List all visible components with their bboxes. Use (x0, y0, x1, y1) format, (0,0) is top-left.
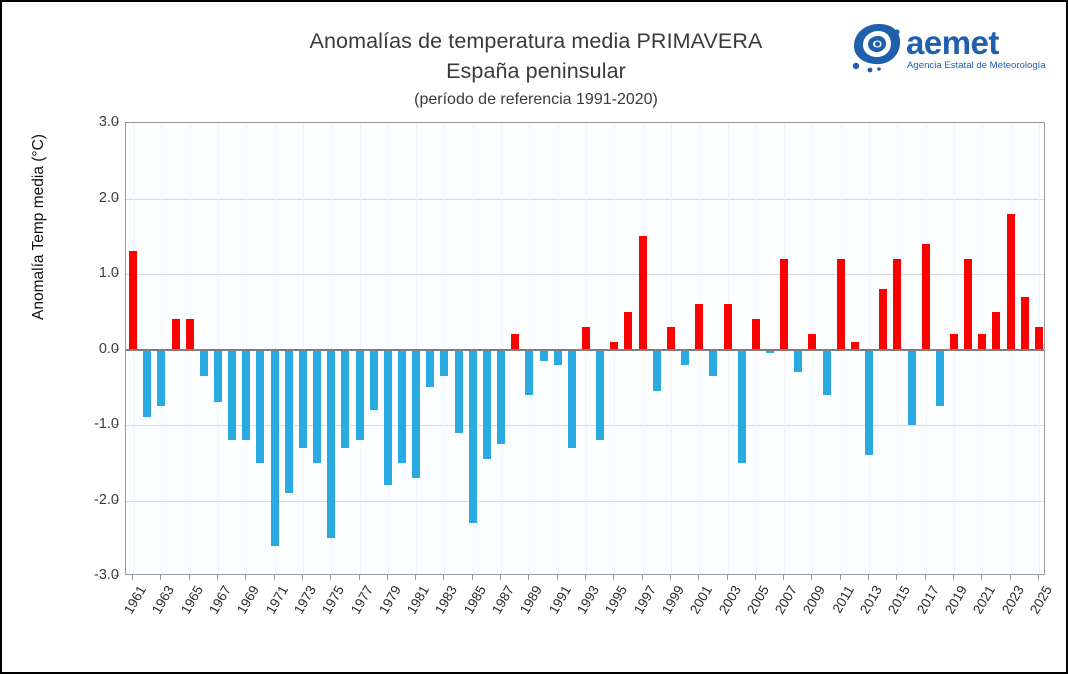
x-tick-label: 2007 (771, 583, 800, 618)
y-tick-label: 3.0 (73, 114, 119, 130)
x-tick-mark (613, 575, 614, 580)
x-tick-label: 1961 (120, 583, 149, 618)
x-tick-mark (755, 575, 756, 580)
y-tick-label: 2.0 (73, 190, 119, 206)
bar-2001 (695, 304, 703, 349)
bar-1990 (540, 350, 548, 361)
x-tick-mark (840, 575, 841, 580)
x-tick-label: 2009 (799, 583, 828, 618)
x-tick-mark (585, 575, 586, 580)
bar-1976 (341, 350, 349, 448)
x-tick-mark (981, 575, 982, 580)
x-tick-mark (698, 575, 699, 580)
x-tick-label: 1997 (630, 583, 659, 618)
bar-1965 (186, 319, 194, 349)
x-tick-label: 2023 (998, 583, 1027, 618)
x-tick-label: 2011 (828, 583, 857, 618)
bar-2003 (724, 304, 732, 349)
x-tick-label: 1989 (516, 583, 545, 618)
x-tick-mark (557, 575, 558, 580)
x-tick-mark (387, 575, 388, 580)
bar-2025 (1035, 327, 1043, 350)
x-tick-mark (160, 575, 161, 580)
x-tick-label: 1973 (290, 583, 319, 618)
x-tick-label: 1983 (431, 583, 460, 618)
bar-1984 (455, 350, 463, 433)
bar-1988 (511, 334, 519, 349)
chart-reference-note: (período de referencia 1991-2020) (2, 88, 1068, 112)
bar-1964 (172, 319, 180, 349)
x-tick-mark (217, 575, 218, 580)
x-tick-mark (811, 575, 812, 580)
x-tick-mark (783, 575, 784, 580)
bar-2008 (794, 350, 802, 373)
x-tick-label: 1971 (262, 583, 291, 618)
bar-1981 (412, 350, 420, 478)
bar-1977 (356, 350, 364, 441)
bar-1979 (384, 350, 392, 486)
bar-1980 (398, 350, 406, 463)
bar-2014 (879, 289, 887, 349)
bar-1968 (228, 350, 236, 441)
x-tick-label: 1969 (233, 583, 262, 618)
x-axis-ticks: 1961196319651967196919711973197519771979… (125, 575, 1045, 670)
x-tick-label: 1965 (177, 583, 206, 618)
bar-2023 (1007, 214, 1015, 350)
aemet-logo: aemet Agencia Estatal de Meteorología (848, 20, 1048, 80)
bar-2021 (978, 334, 986, 349)
x-tick-label: 2017 (913, 583, 942, 618)
x-tick-label: 1987 (488, 583, 517, 618)
x-tick-mark (953, 575, 954, 580)
bar-1974 (313, 350, 321, 463)
x-tick-label: 1967 (205, 583, 234, 618)
x-tick-label: 1995 (601, 583, 630, 618)
gridline-horizontal (126, 199, 1044, 200)
gridline-horizontal (126, 274, 1044, 275)
bar-2002 (709, 350, 717, 376)
chart-page: Anomalías de temperatura media PRIMAVERA… (0, 0, 1068, 674)
x-tick-mark (274, 575, 275, 580)
y-tick-label: 1.0 (73, 265, 119, 281)
x-tick-mark (896, 575, 897, 580)
y-tick-label: -1.0 (73, 416, 119, 432)
bar-1961 (129, 251, 137, 349)
bar-1991 (554, 350, 562, 365)
x-tick-mark (359, 575, 360, 580)
x-tick-mark (132, 575, 133, 580)
bar-1969 (242, 350, 250, 441)
y-tick-label: -2.0 (73, 492, 119, 508)
bar-1986 (483, 350, 491, 459)
bar-2005 (752, 319, 760, 349)
x-tick-label: 1963 (148, 583, 177, 618)
x-tick-label: 1999 (658, 583, 687, 618)
bar-1999 (667, 327, 675, 350)
bar-2020 (964, 259, 972, 350)
x-tick-mark (330, 575, 331, 580)
bar-1967 (214, 350, 222, 403)
x-tick-mark (500, 575, 501, 580)
bar-1982 (426, 350, 434, 388)
bar-1983 (440, 350, 448, 376)
x-tick-label: 1977 (347, 583, 376, 618)
bar-1975 (327, 350, 335, 539)
bar-1971 (271, 350, 279, 546)
y-tick-label: -3.0 (73, 567, 119, 583)
bar-1996 (624, 312, 632, 350)
bar-1966 (200, 350, 208, 376)
bar-1997 (639, 236, 647, 349)
y-axis-title: Anomalía Temp media (°C) (30, 37, 48, 417)
x-tick-mark (302, 575, 303, 580)
bar-1989 (525, 350, 533, 395)
x-tick-label: 1993 (573, 583, 602, 618)
bar-2010 (823, 350, 831, 395)
bar-1973 (299, 350, 307, 448)
bar-2009 (808, 334, 816, 349)
x-tick-label: 2003 (715, 583, 744, 618)
x-tick-mark (245, 575, 246, 580)
bar-2015 (893, 259, 901, 350)
bar-2024 (1021, 297, 1029, 350)
bar-2013 (865, 350, 873, 456)
x-tick-mark (472, 575, 473, 580)
bar-1962 (143, 350, 151, 418)
x-tick-mark (443, 575, 444, 580)
bar-2017 (922, 244, 930, 350)
x-tick-mark (189, 575, 190, 580)
bar-2011 (837, 259, 845, 350)
x-tick-label: 2021 (969, 583, 998, 618)
x-tick-mark (1038, 575, 1039, 580)
x-tick-label: 1979 (375, 583, 404, 618)
y-tick-label: 0.0 (73, 341, 119, 357)
bar-2007 (780, 259, 788, 350)
bar-2019 (950, 334, 958, 349)
zero-axis-line (126, 349, 1044, 351)
bar-1978 (370, 350, 378, 410)
y-axis-ticks: 3.02.01.00.0-1.0-2.0-3.0 (62, 122, 119, 575)
bar-2016 (908, 350, 916, 426)
x-tick-label: 2025 (1026, 583, 1055, 618)
bar-1987 (497, 350, 505, 444)
x-tick-label: 2019 (941, 583, 970, 618)
bar-2018 (936, 350, 944, 407)
x-tick-label: 2001 (686, 583, 715, 618)
x-tick-mark (670, 575, 671, 580)
aemet-wordmark: aemet (906, 24, 999, 61)
bar-1963 (157, 350, 165, 407)
x-tick-label: 2013 (856, 583, 885, 618)
bar-1994 (596, 350, 604, 441)
x-tick-mark (868, 575, 869, 580)
plot-area (125, 122, 1045, 575)
x-tick-label: 1991 (545, 583, 574, 618)
x-tick-label: 1985 (460, 583, 489, 618)
bar-2004 (738, 350, 746, 463)
aemet-tagline: Agencia Estatal de Meteorología (907, 60, 1046, 71)
x-tick-mark (1010, 575, 1011, 580)
x-tick-mark (528, 575, 529, 580)
x-tick-mark (727, 575, 728, 580)
x-tick-mark (642, 575, 643, 580)
x-tick-label: 2005 (743, 583, 772, 618)
bar-1985 (469, 350, 477, 524)
x-tick-label: 2015 (884, 583, 913, 618)
bar-1993 (582, 327, 590, 350)
x-tick-mark (415, 575, 416, 580)
bar-2000 (681, 350, 689, 365)
bar-1970 (256, 350, 264, 463)
x-tick-label: 1975 (318, 583, 347, 618)
x-tick-label: 1981 (403, 583, 432, 618)
aemet-logo-mark (853, 24, 900, 72)
gridline-horizontal (126, 501, 1044, 502)
bar-1992 (568, 350, 576, 448)
x-tick-mark (925, 575, 926, 580)
bar-1972 (285, 350, 293, 493)
bar-2022 (992, 312, 1000, 350)
bar-1998 (653, 350, 661, 392)
